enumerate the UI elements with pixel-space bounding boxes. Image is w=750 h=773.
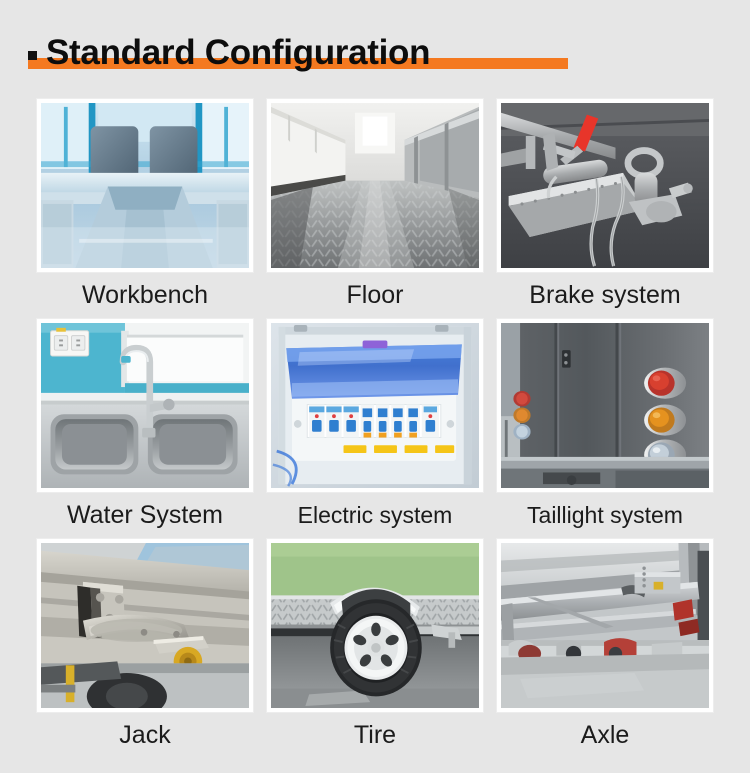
gallery-item-brake-system[interactable]: Brake system	[496, 98, 714, 318]
gallery-item-label: Jack	[36, 713, 254, 758]
gallery-item-jack[interactable]: Jack	[36, 538, 254, 758]
photo-frame	[36, 538, 254, 713]
gallery-item-floor[interactable]: Floor	[266, 98, 484, 318]
jack-photo	[41, 543, 249, 708]
gallery-item-label: Water System	[36, 493, 254, 538]
workbench-photo	[41, 103, 249, 268]
gallery-item-label: Taillight system	[496, 493, 714, 538]
photo-frame	[266, 538, 484, 713]
page-title-block: Standard Configuration	[28, 30, 430, 76]
configuration-gallery: Workbench	[36, 98, 714, 758]
photo-frame	[266, 98, 484, 273]
gallery-item-electric-system[interactable]: Electric system	[266, 318, 484, 538]
floor-photo	[271, 103, 479, 268]
photo-frame	[496, 98, 714, 273]
gallery-item-taillight-system[interactable]: Taillight system	[496, 318, 714, 538]
electric-system-photo	[271, 323, 479, 488]
brake-system-photo	[501, 103, 709, 268]
photo-frame	[496, 538, 714, 713]
tire-photo	[271, 543, 479, 708]
gallery-item-tire[interactable]: Tire	[266, 538, 484, 758]
gallery-item-workbench[interactable]: Workbench	[36, 98, 254, 318]
photo-frame	[36, 318, 254, 493]
photo-frame	[496, 318, 714, 493]
photo-frame	[266, 318, 484, 493]
gallery-item-label: Axle	[496, 713, 714, 758]
water-system-photo	[41, 323, 249, 488]
page-title: Standard Configuration	[46, 34, 430, 72]
photo-frame	[36, 98, 254, 273]
gallery-item-axle[interactable]: Axle	[496, 538, 714, 758]
axle-photo	[501, 543, 709, 708]
square-bullet-icon	[28, 51, 37, 60]
gallery-item-label: Electric system	[266, 493, 484, 538]
gallery-item-label: Brake system	[496, 273, 714, 318]
gallery-item-label: Floor	[266, 273, 484, 318]
gallery-item-water-system[interactable]: Water System	[36, 318, 254, 538]
gallery-item-label: Workbench	[36, 273, 254, 318]
gallery-item-label: Tire	[266, 713, 484, 758]
taillight-system-photo	[501, 323, 709, 488]
title-row: Standard Configuration	[28, 30, 430, 76]
